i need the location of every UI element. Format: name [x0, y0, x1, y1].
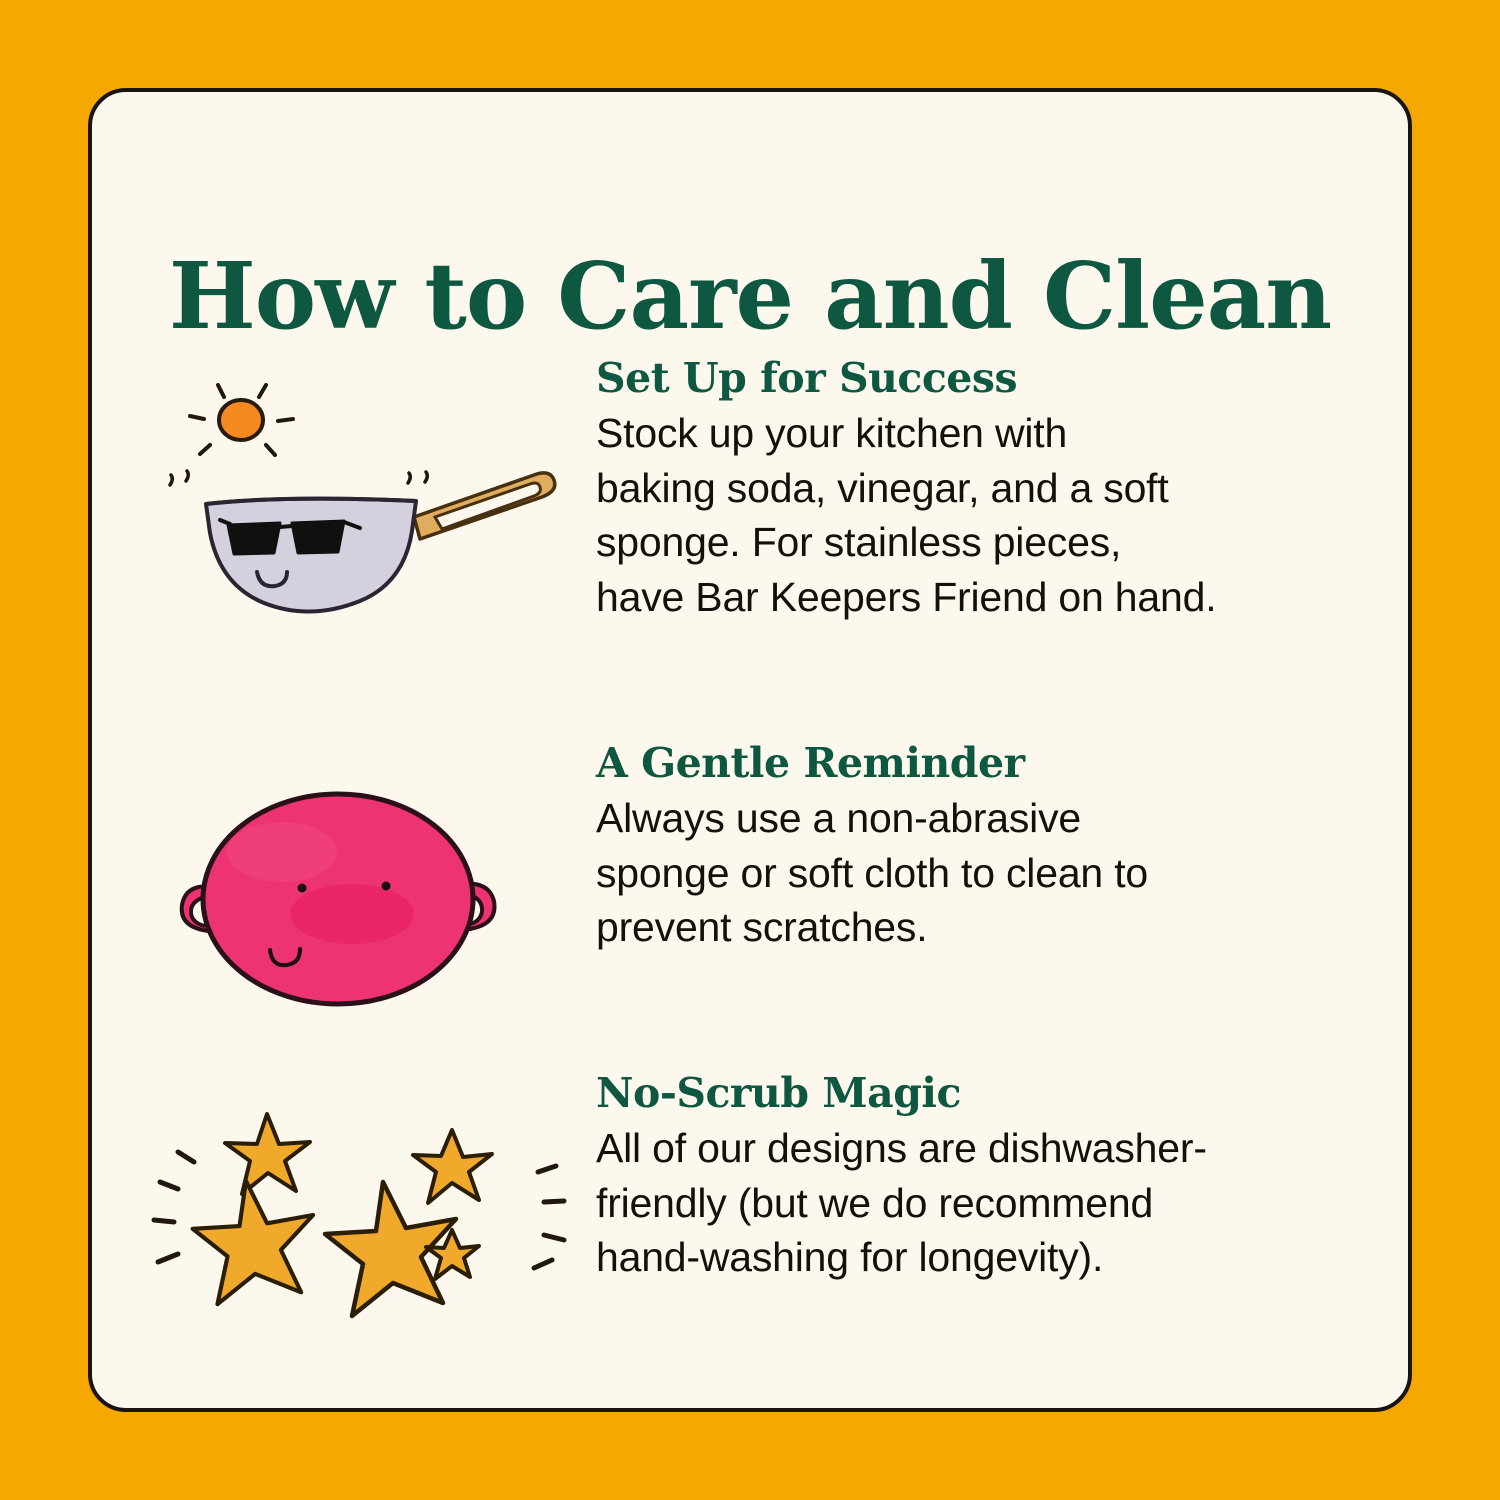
body-line: hand-washing for longevity). — [596, 1230, 1366, 1285]
section-body: Stock up your kitchen with baking soda, … — [596, 406, 1366, 624]
frying-pan-with-sunglasses-and-sun-illustration — [152, 357, 602, 657]
body-line: have Bar Keepers Friend on hand. — [596, 570, 1366, 625]
section-body: Always use a non-abrasive sponge or soft… — [596, 791, 1366, 955]
section-body: All of our designs are dishwasher- frien… — [596, 1121, 1366, 1285]
body-line: All of our designs are dishwasher- — [596, 1121, 1366, 1176]
section-set-up-for-success: Set Up for Success Stock up your kitchen… — [92, 357, 1408, 657]
body-line: friendly (but we do recommend — [596, 1176, 1366, 1231]
section-text-column: Set Up for Success Stock up your kitchen… — [596, 357, 1386, 624]
care-and-clean-card: How to Care and Clean — [88, 88, 1412, 1412]
sparkling-stars-illustration — [152, 1072, 602, 1372]
page-title: How to Care and Clean — [92, 250, 1408, 342]
body-line: sponge. For stainless pieces, — [596, 515, 1366, 570]
body-line: sponge or soft cloth to clean to — [596, 846, 1366, 901]
body-line: Stock up your kitchen with — [596, 406, 1366, 461]
section-a-gentle-reminder: A Gentle Reminder Always use a non-abras… — [92, 742, 1408, 1042]
body-line: prevent scratches. — [596, 900, 1366, 955]
section-text-column: A Gentle Reminder Always use a non-abras… — [596, 742, 1386, 955]
section-heading: A Gentle Reminder — [596, 742, 1386, 785]
section-heading: Set Up for Success — [596, 357, 1386, 400]
section-heading: No-Scrub Magic — [596, 1072, 1386, 1115]
section-text-column: No-Scrub Magic All of our designs are di… — [596, 1072, 1386, 1285]
pink-oval-pot-with-face-illustration — [152, 742, 602, 1042]
body-line: baking soda, vinegar, and a soft — [596, 461, 1366, 516]
section-no-scrub-magic: No-Scrub Magic All of our designs are di… — [92, 1072, 1408, 1372]
body-line: Always use a non-abrasive — [596, 791, 1366, 846]
